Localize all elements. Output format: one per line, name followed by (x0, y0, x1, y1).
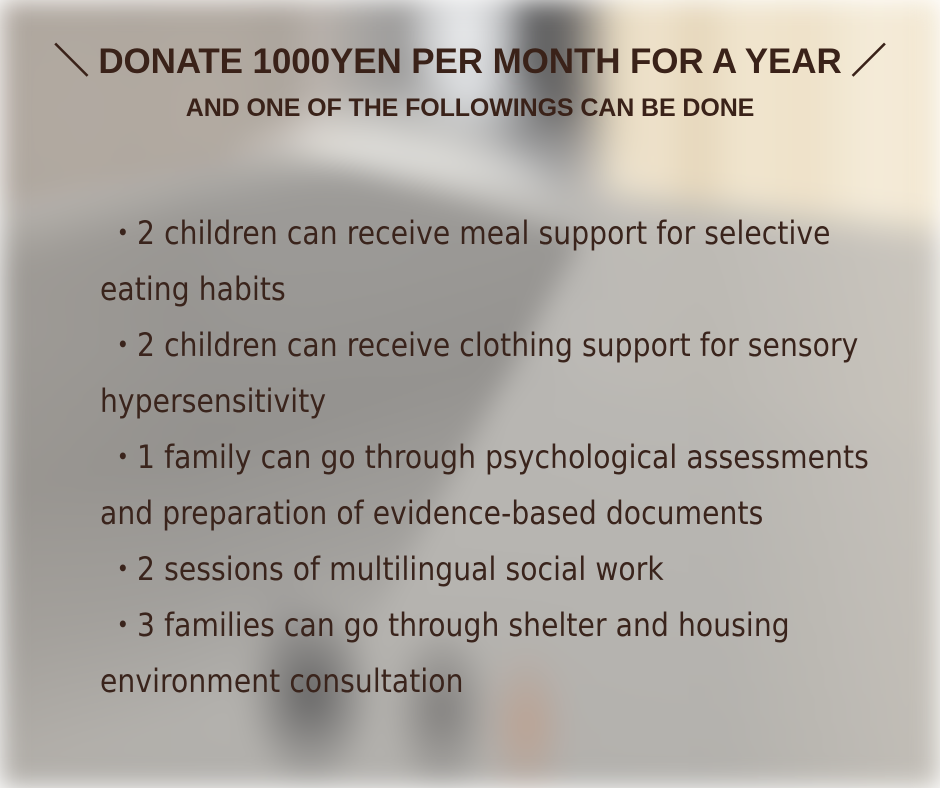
list-item: environment consultation (100, 653, 804, 709)
poster: ＼ DONATE 1000YEN PER MONTH FOR A YEAR ／ … (0, 0, 940, 788)
subheadline: AND ONE OF THE FOLLOWINGS CAN BE DONE (0, 96, 940, 121)
list-item: ・2 children can receive meal support for… (100, 205, 804, 261)
list-item: ・3 families can go through shelter and h… (100, 597, 804, 653)
list-item: ・2 sessions of multilingual social work (100, 541, 804, 597)
list-item: ・2 children can receive clothing support… (100, 317, 804, 373)
headline: ＼ DONATE 1000YEN PER MONTH FOR A YEAR ／ (0, 44, 940, 79)
text-overlay: ＼ DONATE 1000YEN PER MONTH FOR A YEAR ／ … (0, 0, 940, 788)
list-item: eating habits (100, 261, 804, 317)
list-item: hypersensitivity (100, 373, 804, 429)
list-item: and preparation of evidence-based docume… (100, 485, 804, 541)
benefits-list: ・2 children can receive meal support for… (100, 205, 804, 709)
list-item: ・1 family can go through psychological a… (100, 429, 804, 485)
